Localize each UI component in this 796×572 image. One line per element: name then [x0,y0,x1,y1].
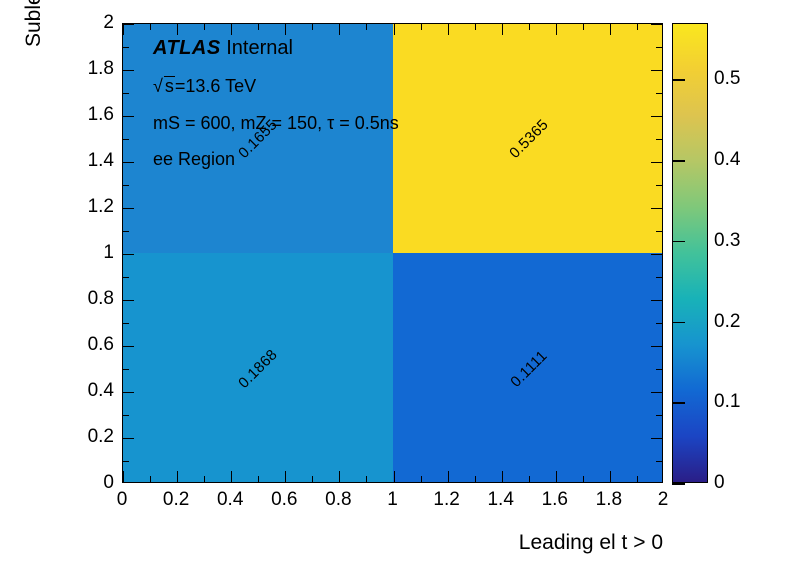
y-tick [123,392,134,393]
y-tick [123,323,129,324]
y-tick-right [651,24,662,25]
color-bar-tick [672,79,685,81]
x-tick [394,471,395,482]
x-tick [556,471,557,482]
x-tick-top [123,24,124,35]
y-tick [123,185,129,186]
y-tick-right [656,47,662,48]
x-tick [421,476,422,482]
y-axis-tick-label: 0.6 [60,334,114,356]
color-bar-tick-label: 0.3 [714,230,740,252]
x-axis-tick-label: 1 [387,489,398,511]
y-axis-title: Subleading el t > 0 [22,23,46,47]
y-tick [123,93,129,94]
x-tick [231,471,232,482]
y-axis-tick-label: 0.8 [60,288,114,310]
x-tick-top [285,24,286,35]
x-tick-top [258,24,259,30]
x-axis-tick-label: 1.2 [433,489,459,511]
color-bar-tick [672,402,685,404]
y-tick-right [651,346,662,347]
color-bar-gradient [673,24,707,482]
x-axis-tick-label: 2 [658,489,669,511]
y-tick [123,70,134,71]
y-tick-right [656,369,662,370]
y-tick-right [651,70,662,71]
x-tick [312,476,313,482]
y-tick [123,277,129,278]
x-axis-tick-label: 0.8 [325,489,351,511]
y-tick [123,415,129,416]
y-tick [123,47,129,48]
y-tick-right [656,93,662,94]
legend-block: ATLAS Internal √s=13.6 TeV mS = 600, mZ … [153,37,399,186]
y-tick [123,139,129,140]
x-tick [204,476,205,482]
color-bar-tick [672,241,685,243]
y-tick [123,438,134,439]
y-axis-tick-label: 1.2 [60,196,114,218]
mass-parameters-label: mS = 600, mZ = 150, τ = 0.5ns [153,113,399,134]
color-bar-tick-label: 0 [714,472,725,494]
y-tick [123,346,134,347]
energy-label: √s=13.6 TeV [153,76,399,97]
x-tick-top [583,24,584,30]
x-tick-top [637,24,638,30]
color-bar-tick [672,483,685,485]
sqrt-icon: √ [153,76,163,96]
x-tick-top [394,24,395,35]
x-tick [610,471,611,482]
y-axis-tick-label: 1.8 [60,58,114,80]
y-tick [123,208,134,209]
y-tick-right [656,277,662,278]
y-axis-tick-label: 0.2 [60,426,114,448]
x-tick [637,476,638,482]
x-tick-top [448,24,449,35]
x-axis-tick-label: 0.2 [163,489,189,511]
y-axis-tick-label: 0.4 [60,380,114,402]
y-axis-tick-label: 1.6 [60,104,114,126]
x-tick [448,471,449,482]
y-tick [123,254,134,255]
x-tick [529,476,530,482]
y-tick-right [656,139,662,140]
y-tick-right [651,162,662,163]
energy-value: =13.6 TeV [175,76,256,96]
x-axis-tick-label: 0.6 [271,489,297,511]
atlas-experiment-text: ATLAS [153,37,221,59]
atlas-status-label: Internal [226,37,293,59]
x-tick [285,471,286,482]
y-tick-right [651,438,662,439]
x-tick-top [475,24,476,30]
y-tick [123,461,129,462]
x-tick-top [366,24,367,30]
x-tick [123,471,124,482]
region-label: ee Region [153,149,399,170]
y-tick-right [651,208,662,209]
color-bar-tick-label: 0.2 [714,311,740,333]
x-axis-tick-label: 1.8 [596,489,622,511]
x-tick-top [502,24,503,35]
y-tick-right [651,116,662,117]
x-tick-top [556,24,557,35]
y-axis-tick-label: 1.4 [60,150,114,172]
y-tick [123,369,129,370]
y-tick-right [651,300,662,301]
y-tick-right [656,185,662,186]
x-axis-tick-label: 0 [117,489,128,511]
y-tick-right [651,392,662,393]
color-bar-tick-label: 0.1 [714,391,740,413]
x-tick-top [421,24,422,30]
atlas-label: ATLAS Internal [153,37,399,60]
x-tick [258,476,259,482]
x-tick-top [150,24,151,30]
x-tick [339,471,340,482]
color-bar-tick [672,160,685,162]
plot-frame: 0.1655 0.5365 0.1868 0.1111 ATLAS Intern… [122,23,663,483]
x-tick-top [312,24,313,30]
x-tick-top [231,24,232,35]
y-tick-right [656,323,662,324]
x-tick [366,476,367,482]
x-tick-top [339,24,340,35]
y-tick [123,24,134,25]
y-tick-right [656,415,662,416]
x-axis-tick-label: 1.4 [487,489,513,511]
color-bar-tick-label: 0.5 [714,68,740,90]
x-axis-tick-label: 1.6 [542,489,568,511]
x-tick [150,476,151,482]
y-tick [123,116,134,117]
x-tick [502,471,503,482]
x-tick [475,476,476,482]
x-tick [583,476,584,482]
x-tick [177,471,178,482]
y-axis-tick-label: 0 [60,472,114,494]
y-tick-right [656,231,662,232]
x-tick-top [610,24,611,35]
color-bar-tick-label: 0.4 [714,149,740,171]
x-tick-top [177,24,178,35]
y-tick [123,300,134,301]
x-tick-top [204,24,205,30]
y-axis-tick-label: 1 [60,242,114,264]
y-tick [123,162,134,163]
energy-symbol: s [164,76,175,96]
color-bar-tick [672,322,685,324]
color-bar[interactable] [672,23,708,483]
y-axis-tick-label: 2 [60,12,114,34]
root-canvas: 0.1655 0.5365 0.1868 0.1111 ATLAS Intern… [0,0,796,572]
y-tick-right [651,254,662,255]
y-tick [123,231,129,232]
x-axis-title: Leading el t > 0 [519,531,663,555]
x-tick-top [529,24,530,30]
x-axis-tick-label: 0.4 [217,489,243,511]
y-tick-right [656,461,662,462]
